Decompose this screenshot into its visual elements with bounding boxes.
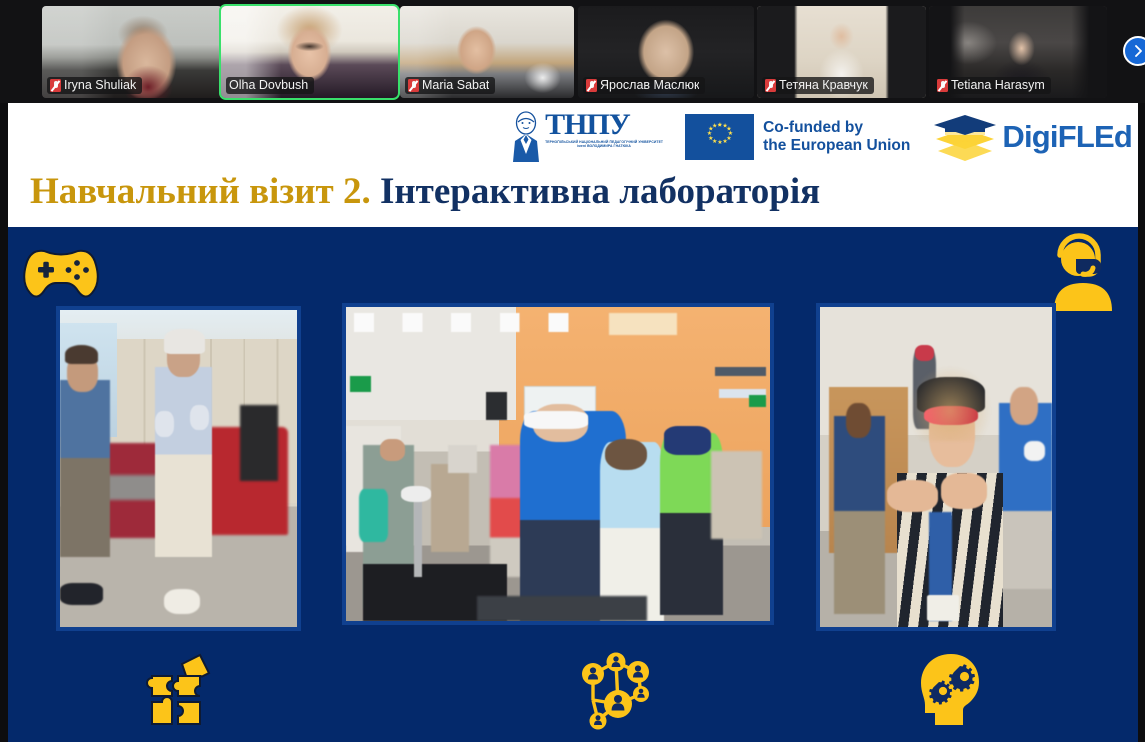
- participant-name: Ярослав Маслюк: [600, 78, 699, 93]
- eu-line2: the European Union: [763, 137, 910, 155]
- slide-body: [8, 227, 1138, 742]
- participant-name: Iryna Shuliak: [64, 78, 136, 93]
- photo-vr-demo-standing-woman: [56, 306, 301, 631]
- eu-line1: Co-funded by: [763, 119, 910, 137]
- slide-title-part2: Інтерактивна лабораторія: [380, 171, 820, 212]
- cap-shape: [932, 111, 998, 163]
- participant-tile[interactable]: Tetiana Harasym: [929, 6, 1107, 98]
- tnpu-portrait-logo: [509, 110, 543, 162]
- participant-tile[interactable]: Тетяна Кравчук: [757, 6, 926, 98]
- participant-tile[interactable]: Maria Sabat: [400, 6, 574, 98]
- digifled-logo: DigiFLEd: [932, 111, 1132, 163]
- participant-name-badge: Olha Dovbush: [226, 77, 314, 94]
- participant-tile[interactable]: Iryna Shuliak: [42, 6, 222, 98]
- participant-tile[interactable]: Ярослав Маслюк: [578, 6, 754, 98]
- participant-filmstrip: Iryna Shuliak Olha Dovbush Maria Sabat Я…: [0, 0, 1145, 103]
- svg-text:★: ★: [723, 138, 728, 145]
- microphone-muted-icon: [937, 79, 948, 92]
- puzzle-pieces-icon: [146, 650, 224, 735]
- eu-flag-icon: ★★ ★★ ★★ ★★ ★★ ★★: [685, 114, 754, 160]
- participant-name-badge: Iryna Shuliak: [47, 77, 142, 94]
- bottom-icon-row: [8, 642, 1138, 742]
- tnpu-abbreviation: ТНПУ: [545, 110, 663, 140]
- shared-slide: ТНПУ ТЕРНОПІЛЬСЬКИЙ НАЦІОНАЛЬНИЙ ПЕДАГОГ…: [8, 103, 1138, 742]
- participant-name-badge: Ярослав Маслюк: [583, 77, 705, 94]
- participant-tile-active[interactable]: Olha Dovbush: [221, 6, 398, 98]
- svg-text:★: ★: [717, 139, 722, 146]
- participant-name: Tetiana Harasym: [951, 78, 1045, 93]
- people-network-icon: [568, 648, 656, 739]
- eu-cofunded-logo: ★★ ★★ ★★ ★★ ★★ ★★ Co-funded by the Europ…: [685, 114, 910, 160]
- vr-headset-person-icon: [1050, 233, 1116, 316]
- slide-title-part1: Навчальний візит 2.: [30, 171, 371, 212]
- participant-name: Olha Dovbush: [229, 78, 308, 93]
- eu-cofunded-text: Co-funded by the European Union: [763, 119, 910, 155]
- gamepad-icon: [22, 241, 100, 304]
- tnpu-logo: ТНПУ ТЕРНОПІЛЬСЬКИЙ НАЦІОНАЛЬНИЙ ПЕДАГОГ…: [509, 110, 663, 164]
- microphone-muted-icon: [765, 79, 776, 92]
- participant-name: Maria Sabat: [422, 78, 489, 93]
- slide-header: ТНПУ ТЕРНОПІЛЬСЬКИЙ НАЦІОНАЛЬНИЙ ПЕДАГОГ…: [8, 103, 1138, 227]
- digifled-text: DigiFLEd: [1002, 119, 1132, 155]
- eu-stars: ★★ ★★ ★★ ★★ ★★ ★★: [685, 114, 754, 160]
- photo-ar-glasses-woman: [816, 303, 1056, 631]
- head-with-gears-icon: [913, 650, 991, 735]
- graduation-cap-icon: [932, 111, 998, 163]
- tnpu-text: ТНПУ ТЕРНОПІЛЬСЬКИЙ НАЦІОНАЛЬНИЙ ПЕДАГОГ…: [545, 110, 663, 149]
- participant-name-badge: Maria Sabat: [405, 77, 495, 94]
- svg-text:★: ★: [712, 122, 717, 129]
- microphone-muted-icon: [586, 79, 597, 92]
- portrait-icon: [509, 110, 543, 162]
- participant-name: Тетяна Кравчук: [779, 78, 868, 93]
- chevron-right-icon: [1131, 44, 1145, 58]
- tnpu-subtitle: ТЕРНОПІЛЬСЬКИЙ НАЦІОНАЛЬНИЙ ПЕДАГОГІЧНИЙ…: [545, 140, 663, 149]
- photo-classroom-vr-group: [342, 303, 774, 625]
- logo-row: ТНПУ ТЕРНОПІЛЬСЬКИЙ НАЦІОНАЛЬНИЙ ПЕДАГОГ…: [509, 108, 1132, 166]
- participant-name-badge: Tetiana Harasym: [934, 77, 1051, 94]
- microphone-muted-icon: [50, 79, 61, 92]
- microphone-muted-icon: [408, 79, 419, 92]
- participant-name-badge: Тетяна Кравчук: [762, 77, 874, 94]
- next-participants-button[interactable]: [1123, 36, 1145, 66]
- slide-title: Навчальний візит 2. Інтерактивна лаборат…: [30, 169, 1070, 215]
- zoom-screen-share-window: Iryna Shuliak Olha Dovbush Maria Sabat Я…: [0, 0, 1145, 742]
- photo-row: [8, 305, 1138, 637]
